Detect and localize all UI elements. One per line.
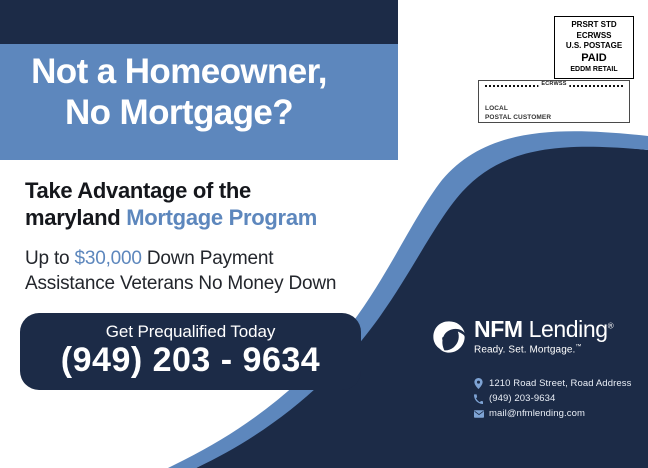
map-pin-icon bbox=[472, 378, 485, 389]
address-line-local: LOCAL bbox=[485, 104, 629, 113]
subheadline: Take Advantage of the maryland Mortgage … bbox=[25, 178, 375, 232]
brand-name-nfm: NFM bbox=[474, 316, 523, 342]
ecrwss-rule: ECRWSS bbox=[485, 85, 623, 94]
cta-phone-number[interactable]: (949) 203 - 9634 bbox=[20, 341, 361, 380]
address-lines: LOCAL POSTAL CUSTOMER bbox=[485, 104, 629, 123]
headline-line-2: No Mortgage? bbox=[0, 93, 358, 134]
postcard: PRSRT STD ECRWSS U.S. POSTAGE PAID EDDM … bbox=[0, 0, 648, 468]
subheadline-program-accent: Mortgage Program bbox=[126, 205, 317, 230]
subheadline-line-2: maryland Mortgage Program bbox=[25, 205, 375, 232]
brand-tagline-text: Ready. Set. Mortgage. bbox=[474, 344, 575, 355]
body-copy-line-2: Assistance Veterans No Money Down bbox=[25, 271, 385, 296]
cta-button[interactable]: Get Prequalified Today (949) 203 - 9634 bbox=[20, 313, 361, 390]
indicia-line-eddm: EDDM RETAIL bbox=[555, 65, 633, 74]
contact-row-address: 1210 Road Street, Road Address bbox=[472, 376, 631, 391]
phone-icon bbox=[472, 394, 485, 404]
indicia-line-ecrwss: ECRWSS bbox=[555, 31, 633, 42]
body-copy-prefix: Up to bbox=[25, 248, 75, 269]
indicia-line-paid: PAID bbox=[555, 52, 633, 66]
headline: Not a Homeowner, No Mortgage? bbox=[0, 52, 358, 133]
registered-mark: ® bbox=[608, 321, 614, 330]
indicia-line-prsrt: PRSRT STD bbox=[555, 20, 633, 31]
contact-row-phone[interactable]: (949) 203-9634 bbox=[472, 391, 631, 406]
cta-label: Get Prequalified Today bbox=[20, 313, 361, 342]
brand-logo-text: NFM Lending® Ready. Set. Mortgage.™ bbox=[474, 318, 614, 355]
contact-address-text: 1210 Road Street, Road Address bbox=[489, 378, 631, 389]
brand-name-lending: Lending bbox=[523, 316, 608, 342]
brand-tagline: Ready. Set. Mortgage.™ bbox=[474, 344, 614, 355]
trademark-mark: ™ bbox=[575, 344, 581, 350]
envelope-icon bbox=[472, 410, 485, 418]
body-copy-amount: $30,000 bbox=[75, 248, 142, 269]
nfm-swoosh-icon bbox=[432, 320, 466, 354]
address-block: ECRWSS LOCAL POSTAL CUSTOMER bbox=[478, 80, 630, 123]
postal-indicia: PRSRT STD ECRWSS U.S. POSTAGE PAID EDDM … bbox=[554, 16, 634, 79]
ecrwss-tag: ECRWSS bbox=[538, 81, 569, 87]
subheadline-line-1: Take Advantage of the bbox=[25, 178, 375, 205]
address-line-customer: POSTAL CUSTOMER bbox=[485, 113, 629, 122]
contact-email-text[interactable]: mail@nfmlending.com bbox=[489, 408, 585, 419]
indicia-line-postage: U.S. POSTAGE bbox=[555, 41, 633, 52]
contact-info: 1210 Road Street, Road Address (949) 203… bbox=[472, 376, 631, 421]
body-copy-suffix: Down Payment bbox=[142, 248, 274, 269]
contact-phone-text[interactable]: (949) 203-9634 bbox=[489, 393, 555, 404]
brand-name: NFM Lending® bbox=[474, 318, 614, 341]
body-copy-line-1: Up to $30,000 Down Payment bbox=[25, 246, 385, 271]
contact-row-email[interactable]: mail@nfmlending.com bbox=[472, 406, 631, 421]
body-copy: Up to $30,000 Down Payment Assistance Ve… bbox=[25, 246, 385, 297]
brand-logo: NFM Lending® Ready. Set. Mortgage.™ bbox=[432, 318, 614, 355]
subheadline-program-state: maryland bbox=[25, 205, 126, 230]
headline-line-1: Not a Homeowner, bbox=[31, 52, 327, 91]
